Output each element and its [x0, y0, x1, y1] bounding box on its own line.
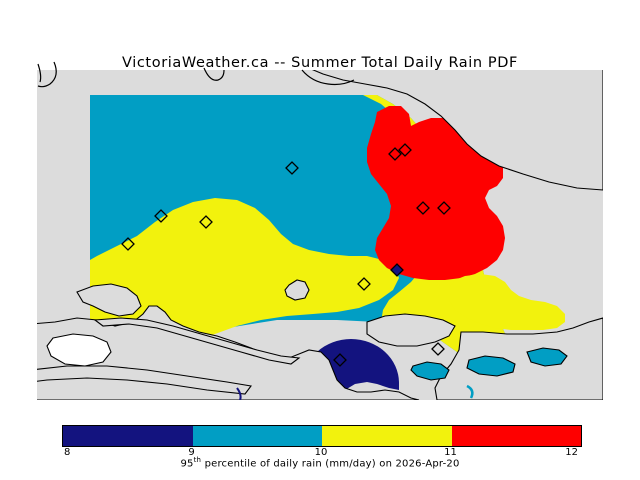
- colorbar-band-10-11: [322, 426, 452, 446]
- page-margin-left: [0, 55, 37, 400]
- caption-prefix: 95: [180, 458, 193, 469]
- caption-rest: percentile of daily rain (mm/day) on 202…: [201, 458, 459, 469]
- map-panel: [37, 70, 603, 400]
- coastline-fragment-north-east: [300, 68, 360, 90]
- colorbar-band-8-9: [63, 426, 193, 446]
- chart-title: VictoriaWeather.ca -- Summer Total Daily…: [0, 55, 640, 71]
- colorbar: 8 9 10 11 12: [62, 425, 582, 447]
- colorbar-bands: [62, 425, 582, 447]
- map-canvas: [37, 70, 603, 400]
- weather-map-figure: VictoriaWeather.ca -- Summer Total Daily…: [0, 0, 640, 480]
- page-margin-right: [603, 55, 640, 400]
- colorbar-band-9-10: [193, 426, 323, 446]
- colorbar-caption: 95th percentile of daily rain (mm/day) o…: [0, 456, 640, 469]
- colorbar-band-11-12: [452, 426, 582, 446]
